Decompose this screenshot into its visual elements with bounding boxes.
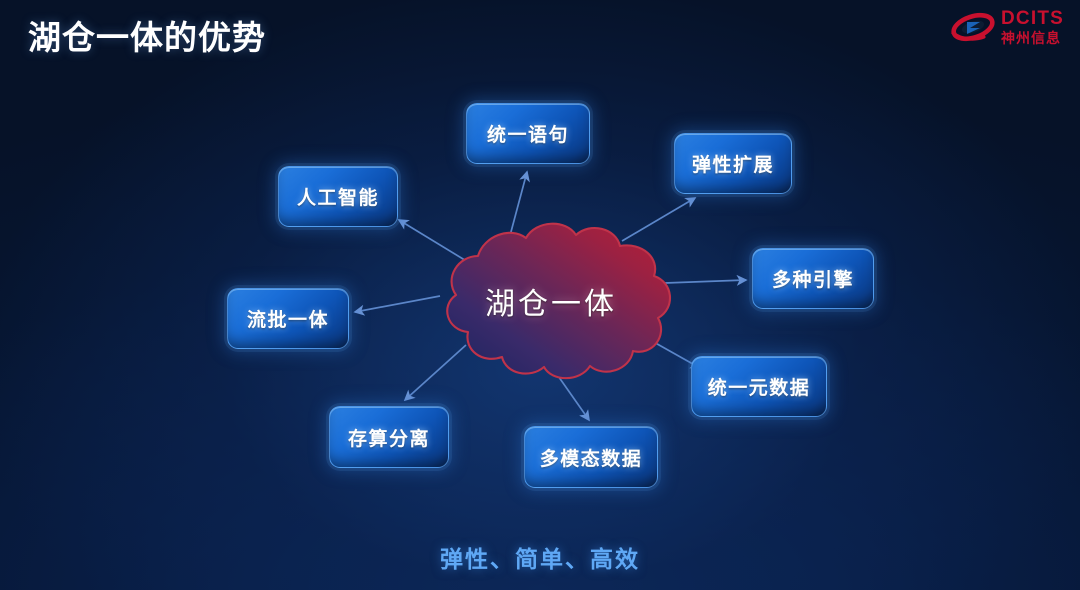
- brand-logo: DCITS 神州信息: [951, 9, 1064, 45]
- dcits-swirl-logo-icon: [951, 11, 995, 43]
- feature-node-stream-batch[interactable]: 流批一体: [227, 288, 349, 349]
- brand-wordmark: DCITS 神州信息: [1001, 9, 1064, 45]
- brand-chinese-name: 神州信息: [1001, 31, 1064, 45]
- center-cloud-node[interactable]: 湖仓一体: [414, 218, 682, 383]
- feature-node-label: 存算分离: [348, 424, 430, 451]
- feature-node-label: 统一元数据: [708, 373, 811, 400]
- feature-node-ai[interactable]: 人工智能: [278, 166, 398, 227]
- feature-node-label: 统一语句: [487, 120, 569, 147]
- feature-node-label: 弹性扩展: [692, 150, 774, 177]
- feature-node-unified-syntax[interactable]: 统一语句: [466, 103, 590, 164]
- brand-latin-name: DCITS: [1001, 9, 1064, 28]
- feature-node-label: 多模态数据: [540, 444, 643, 471]
- feature-node-label: 多种引擎: [772, 265, 854, 292]
- feature-node-storage-compute[interactable]: 存算分离: [329, 406, 449, 468]
- page-title: 湖仓一体的优势: [28, 11, 266, 59]
- slide-canvas: 湖仓一体的优势 DCITS 神州信息: [0, 0, 1080, 590]
- feature-node-multi-engine[interactable]: 多种引擎: [752, 248, 874, 309]
- feature-node-unified-metadata[interactable]: 统一元数据: [691, 356, 827, 417]
- center-cloud-label: 湖仓一体: [414, 218, 682, 383]
- feature-node-label: 流批一体: [247, 305, 329, 332]
- feature-node-label: 人工智能: [297, 183, 379, 210]
- feature-node-elastic-scaling[interactable]: 弹性扩展: [674, 133, 792, 194]
- footer-tagline: 弹性、简单、高效: [0, 540, 1080, 574]
- feature-node-multimodal-data[interactable]: 多模态数据: [524, 426, 658, 488]
